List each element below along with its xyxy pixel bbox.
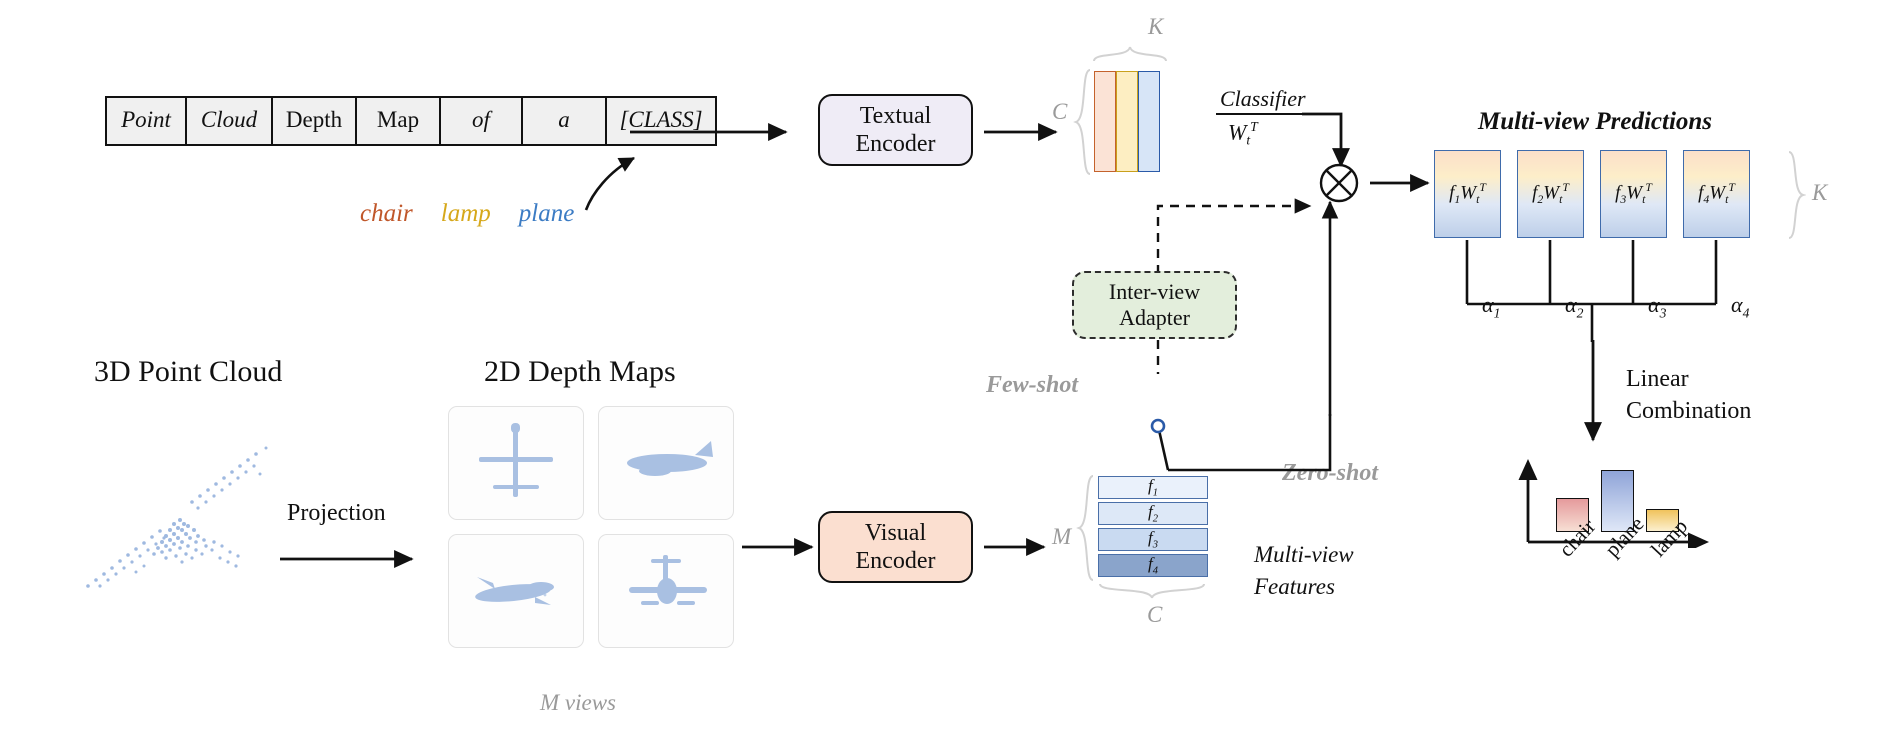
inter-view-adapter-box: Inter-view Adapter xyxy=(1072,271,1237,339)
class-word-plane: plane xyxy=(519,200,575,228)
prediction-box-1: f1WtT xyxy=(1434,150,1501,238)
features-caption-line2: Features xyxy=(1254,574,1335,600)
classifier-weight-sub: t xyxy=(1246,133,1250,148)
depth-map-view-1 xyxy=(448,406,584,520)
alpha-label-3: α3 xyxy=(1648,292,1666,321)
projection-label: Projection xyxy=(287,500,386,527)
textual-encoder-line2: Encoder xyxy=(856,130,936,158)
alpha-label-1: α1 xyxy=(1482,292,1500,321)
feature-row-1-label: f1 xyxy=(1148,476,1158,498)
predictions-dim-brace xyxy=(1786,150,1806,240)
adapter-line2: Adapter xyxy=(1119,305,1190,331)
feature-row-4: f4 xyxy=(1098,554,1208,577)
prompt-token-3: Map xyxy=(357,98,441,144)
classifier-rows-brace xyxy=(1073,68,1093,176)
depth-map-view-3 xyxy=(448,534,584,648)
feature-row-4-label: f4 xyxy=(1148,554,1158,576)
prediction-box-1-label: f1WtT xyxy=(1449,181,1486,207)
visual-encoder-box: Visual Encoder xyxy=(818,511,973,583)
linear-combination-line1: Linear xyxy=(1626,366,1689,393)
adapter-line1: Inter-view xyxy=(1109,279,1200,305)
depth-map-view-4 xyxy=(598,534,734,648)
class-word-list: chair lamp plane xyxy=(360,200,574,228)
prompt-token-1: Cloud xyxy=(187,98,273,144)
depth-map-view-2 xyxy=(598,406,734,520)
depth-maps-section-title: 2D Depth Maps xyxy=(484,355,676,389)
prompt-token-0: Point xyxy=(107,98,187,144)
class-word-lamp: lamp xyxy=(441,200,491,228)
classifier-cols-brace xyxy=(1092,44,1168,64)
feature-row-3: f3 xyxy=(1098,528,1208,551)
views-caption: M views xyxy=(540,690,616,716)
classifier-weight-base: W xyxy=(1228,119,1246,144)
depth-map-grid xyxy=(448,406,734,648)
diagram-canvas: Point Cloud Depth Map of a [CLASS] chair… xyxy=(0,0,1882,746)
predictions-dim-label: K xyxy=(1812,180,1827,206)
classifier-column-plane xyxy=(1138,71,1160,172)
classifier-matrix xyxy=(1094,71,1160,172)
alpha-label-4: α4 xyxy=(1731,292,1749,321)
multi-view-feature-stack: f1 f2 f3 f4 xyxy=(1098,476,1208,577)
classifier-cols-dim-label: K xyxy=(1148,14,1163,40)
features-rows-dim-label: M xyxy=(1052,524,1071,550)
arrow-multiply-to-predictions xyxy=(1368,169,1442,197)
arrow-depthmaps-to-visual-encoder xyxy=(740,533,830,561)
visual-encoder-line2: Encoder xyxy=(856,547,936,575)
prediction-box-3: f3WtT xyxy=(1600,150,1667,238)
predictions-title: Multi-view Predictions xyxy=(1478,108,1712,136)
feature-row-2: f2 xyxy=(1098,502,1208,525)
classifier-column-lamp xyxy=(1116,71,1138,172)
classifier-title: Classifier xyxy=(1220,86,1306,112)
features-cols-brace xyxy=(1098,582,1208,602)
classifier-weight-sup: T xyxy=(1250,119,1258,134)
prediction-box-4-label: f4WtT xyxy=(1698,181,1735,207)
prediction-box-3-label: f3WtT xyxy=(1615,181,1652,207)
features-caption-line1: Multi-view xyxy=(1254,542,1354,568)
features-cols-dim-label: C xyxy=(1147,602,1162,628)
textual-encoder-line1: Textual xyxy=(860,102,932,130)
class-word-chair: chair xyxy=(360,200,413,228)
features-rows-brace xyxy=(1076,474,1096,582)
arrow-zero-shot-into-multiply xyxy=(1318,196,1346,420)
class-curved-arrow-icon xyxy=(568,142,678,214)
arrow-visual-encoder-to-features xyxy=(982,533,1062,561)
prompt-token-table: Point Cloud Depth Map of a [CLASS] xyxy=(105,96,717,146)
prompt-token-2: Depth xyxy=(273,98,357,144)
prediction-box-2-label: f2WtT xyxy=(1532,181,1569,207)
arrow-projection xyxy=(278,545,428,573)
feature-row-1: f1 xyxy=(1098,476,1208,499)
prompt-token-4: of xyxy=(441,98,523,144)
classifier-weight-label: WtT xyxy=(1228,119,1258,149)
linear-combination-line2: Combination xyxy=(1626,398,1751,425)
prompt-token-5: a xyxy=(523,98,607,144)
prediction-box-2: f2WtT xyxy=(1517,150,1584,238)
classifier-column-chair xyxy=(1094,71,1116,172)
few-shot-label: Few-shot xyxy=(986,372,1078,399)
feature-row-3-label: f3 xyxy=(1148,528,1158,550)
point-cloud-visual xyxy=(70,440,290,600)
classifier-rows-dim-label: C xyxy=(1052,99,1067,125)
alpha-label-2: α2 xyxy=(1565,292,1583,321)
arrow-prompt-to-textual-encoder xyxy=(628,118,800,146)
visual-encoder-line1: Visual xyxy=(865,519,926,547)
arrow-linear-combination xyxy=(1580,338,1608,456)
prediction-box-4: f4WtT xyxy=(1683,150,1750,238)
prediction-box-row: f1WtT f2WtT f3WtT f4WtT xyxy=(1434,150,1750,238)
feature-row-2-label: f2 xyxy=(1148,502,1158,524)
point-cloud-section-title: 3D Point Cloud xyxy=(94,355,282,389)
textual-encoder-box: Textual Encoder xyxy=(818,94,973,166)
